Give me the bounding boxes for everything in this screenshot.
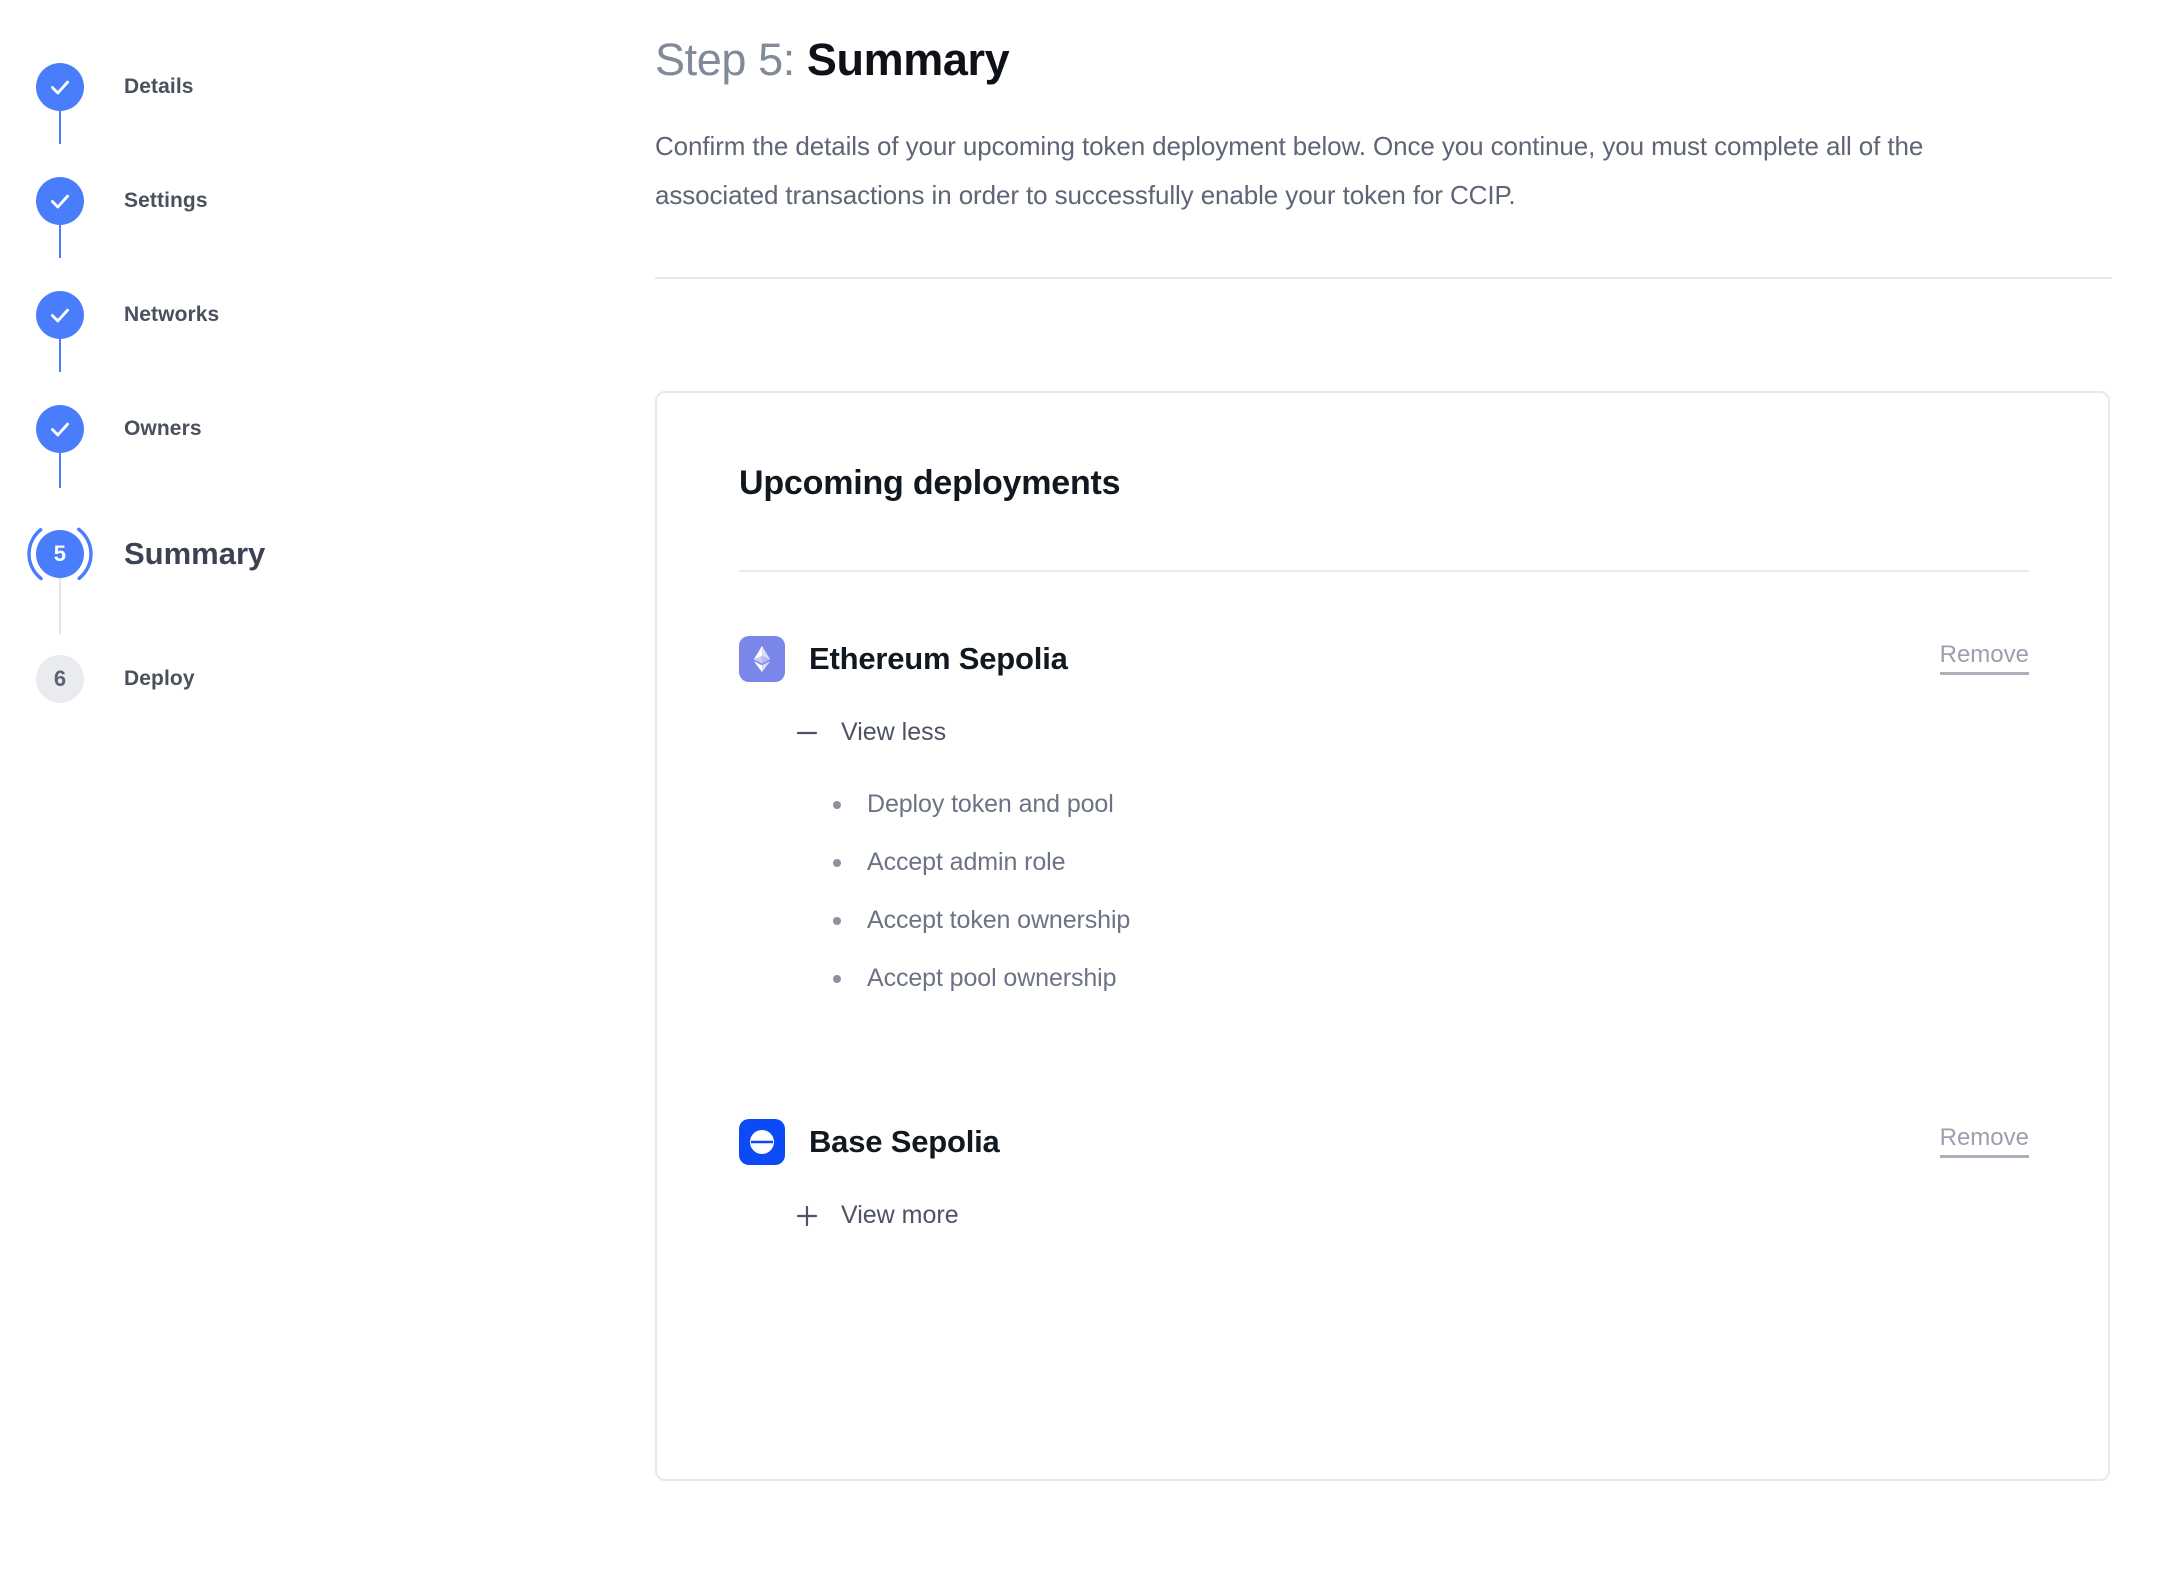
sidebar-item-deploy[interactable]: 6 Deploy [0,622,655,736]
sidebar-item-settings[interactable]: Settings [0,144,655,258]
view-less-toggle[interactable]: View less [739,718,946,747]
list-item: Accept token ownership [827,891,2026,949]
step-marker-settings [0,144,120,258]
card-title: Upcoming deployments [739,393,2026,503]
network-header: Ethereum Sepolia Remove [739,636,2029,682]
step-marker-details [0,30,120,144]
step-number-label: 5 [54,541,66,567]
list-item: Deploy token and pool [827,775,2026,833]
page-title: Step 5: Summary [655,30,2160,86]
view-less-label: View less [841,718,946,747]
sidebar-item-label: Details [120,75,194,99]
page-title-text: Summary [807,34,1009,85]
minus-icon [795,721,819,745]
network-block-base-sepolia: Base Sepolia Remove View more [739,1119,2026,1230]
check-icon [36,63,84,111]
sidebar-item-label: Networks [120,303,219,327]
network-block-ethereum-sepolia: Ethereum Sepolia Remove View less Deploy… [739,636,2026,1007]
step-marker-owners [0,372,120,486]
step-marker-summary: 5 [0,486,120,622]
sidebar-item-owners[interactable]: Owners [0,372,655,486]
check-icon [36,291,84,339]
card-title-divider [739,570,2029,572]
sidebar-item-label: Settings [120,189,208,213]
step-marker-networks [0,258,120,372]
base-icon [739,1119,785,1165]
sidebar-item-label: Summary [120,536,265,572]
wizard-stepper: Details Settings Networks [0,0,655,736]
view-more-toggle[interactable]: View more [739,1201,959,1230]
network-identity: Ethereum Sepolia [739,636,1068,682]
step-number-badge: 6 [36,655,84,703]
summary-page: Details Settings Networks [0,0,2160,1580]
view-more-label: View more [841,1201,959,1230]
sidebar-item-summary[interactable]: 5 Summary [0,486,655,622]
upcoming-deployments-card: Upcoming deployments [655,391,2110,1481]
ethereum-icon [739,636,785,682]
sidebar-item-networks[interactable]: Networks [0,258,655,372]
remove-network-link[interactable]: Remove [1940,1126,2029,1158]
list-item: Accept admin role [827,833,2026,891]
plus-icon [795,1204,819,1228]
step-number-label: 6 [54,666,66,692]
network-task-list: Deploy token and pool Accept admin role … [739,747,2026,1007]
page-description: Confirm the details of your upcoming tok… [655,86,1960,220]
check-icon [36,177,84,225]
check-icon [36,405,84,453]
network-spacer [739,1007,2026,1119]
sidebar-item-details[interactable]: Details [0,30,655,144]
sidebar-item-label: Deploy [120,667,195,691]
list-item: Accept pool ownership [827,949,2026,1007]
page-title-step-prefix: Step 5: [655,34,795,85]
network-name: Ethereum Sepolia [809,641,1068,677]
header-divider [655,277,2112,279]
network-name: Base Sepolia [809,1124,1000,1160]
network-header: Base Sepolia Remove [739,1119,2029,1165]
sidebar-item-label: Owners [120,417,202,441]
network-identity: Base Sepolia [739,1119,1000,1165]
step-marker-deploy: 6 [0,622,120,736]
step-number-badge: 5 [36,530,84,578]
remove-network-link[interactable]: Remove [1940,643,2029,675]
main-content: Step 5: Summary Confirm the details of y… [655,0,2160,1481]
